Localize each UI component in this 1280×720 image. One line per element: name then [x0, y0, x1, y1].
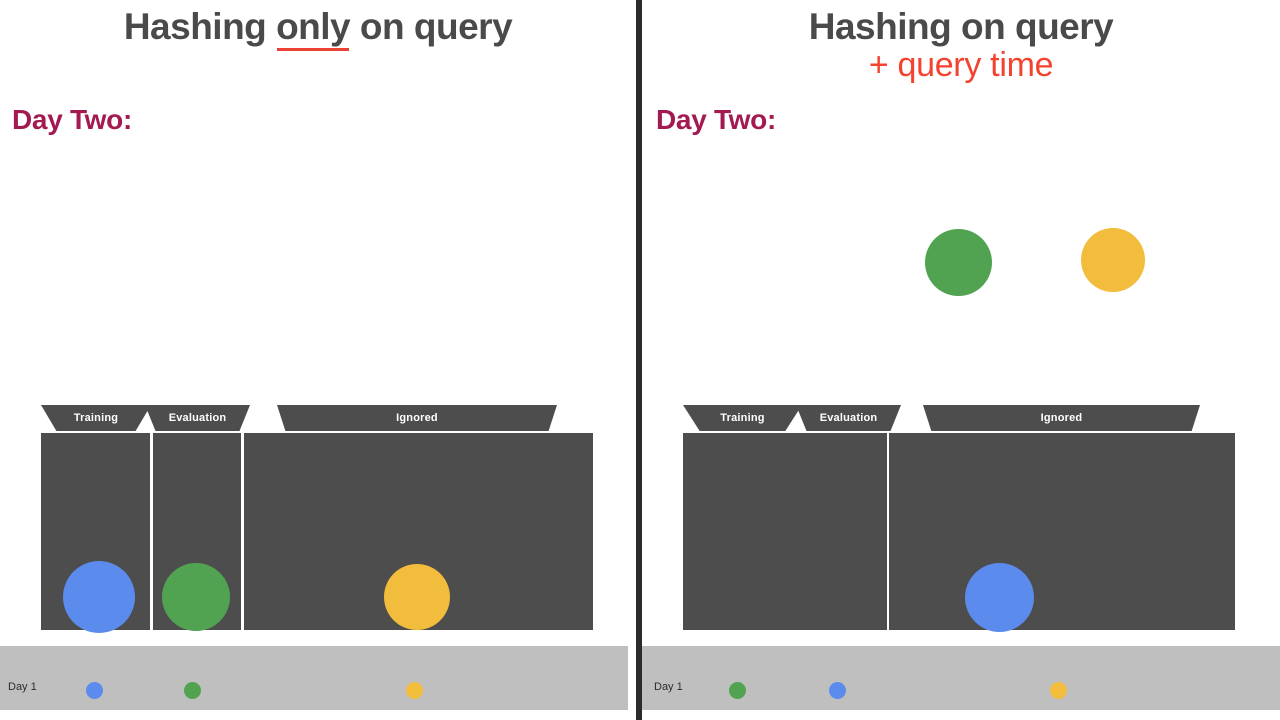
left-timeline-dot-blue [86, 682, 103, 699]
left-bin-tab-training-label: Training [74, 412, 118, 425]
left-title-before: Hashing [124, 6, 276, 47]
left-day-label: Day Two: [12, 104, 132, 136]
left-bin-tab-ignored: Ignored [277, 405, 557, 431]
right-timeline [642, 646, 1280, 710]
right-floating-circle-green [925, 229, 992, 296]
right-bin-circle-ignored-blue [965, 563, 1034, 632]
right-timeline-dot-green [729, 682, 746, 699]
left-bin-tab-training: Training [41, 405, 151, 431]
left-title-underlined: only [276, 8, 350, 47]
left-bin-tab-evaluation: Evaluation [145, 405, 250, 431]
left-timeline-dot-yellow [406, 682, 423, 699]
right-bin-tab-training: Training [683, 405, 802, 431]
left-panel: Hashing only on query Day Two: Training … [0, 0, 636, 720]
left-timeline-dot-green [184, 682, 201, 699]
left-bin-circle-evaluation-green [162, 563, 230, 631]
right-title-before: Hashing on query [809, 6, 1113, 47]
right-timeline-dot-blue [829, 682, 846, 699]
right-bin-tab-evaluation: Evaluation [796, 405, 901, 431]
right-timeline-dot-yellow [1050, 682, 1067, 699]
left-title-after: on query [350, 6, 512, 47]
left-timeline-label: Day 1 [8, 681, 37, 693]
right-timeline-label: Day 1 [654, 681, 683, 693]
slide-canvas: Hashing only on query Day Two: Training … [0, 0, 1280, 720]
left-bin-tab-evaluation-label: Evaluation [169, 412, 227, 425]
right-bin-tab-ignored-label: Ignored [1041, 412, 1083, 425]
right-panel: Hashing on query + query time Day Two: T… [642, 0, 1280, 720]
right-day-label: Day Two: [656, 104, 776, 136]
left-timeline [0, 646, 628, 710]
left-panel-title: Hashing only on query [0, 8, 636, 47]
right-bin-training [683, 433, 805, 630]
right-bin-ignored [889, 433, 1235, 630]
left-bin-tab-ignored-label: Ignored [396, 412, 438, 425]
right-title-subtitle: + query time [642, 48, 1280, 84]
left-bin-circle-training-blue [63, 561, 135, 633]
right-panel-title: Hashing on query + query time [642, 8, 1280, 84]
right-floating-circle-yellow [1081, 228, 1145, 292]
right-bin-tab-evaluation-label: Evaluation [820, 412, 878, 425]
right-bin-evaluation [799, 433, 887, 630]
left-bin-circle-ignored-yellow [384, 564, 450, 630]
right-bin-tab-ignored: Ignored [923, 405, 1200, 431]
right-bin-tab-training-label: Training [720, 412, 764, 425]
